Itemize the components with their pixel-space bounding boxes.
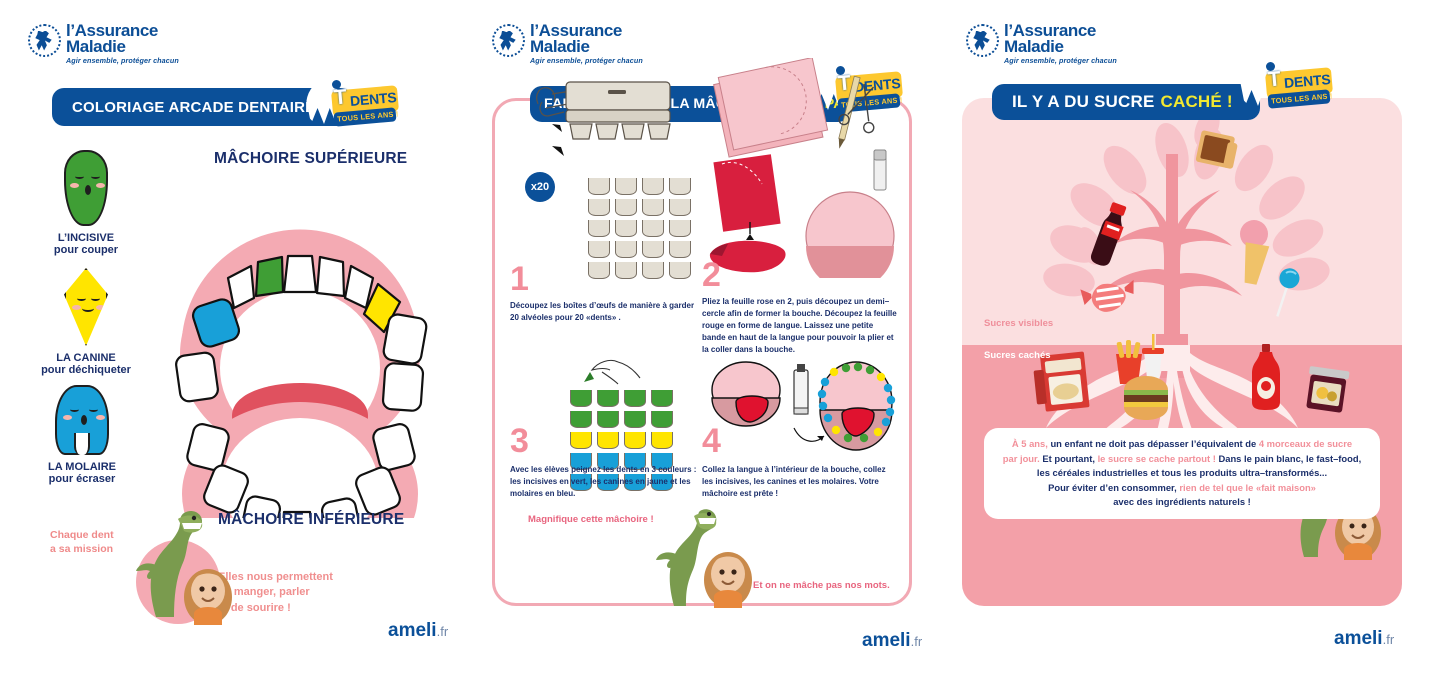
info-s8: les céréales industrielles et tous les p…: [1037, 467, 1327, 478]
step3-paintbrush-illustration: [562, 358, 682, 394]
ice-cream-icon: [1239, 220, 1270, 286]
step1-cups-grid: [588, 178, 691, 279]
note-chaque-dent: Chaque dent a sa mission: [50, 528, 114, 556]
tooth-upper-molar-right-1: [382, 313, 427, 365]
tooth-upper-incisor-1: [284, 256, 316, 292]
step-2-number: 2: [702, 258, 721, 292]
tdents-badge: T DENTS TOUS LES ANS !: [306, 80, 398, 130]
panel-coloriage-arcade-dentaire: l’Assurance Maladie Agir ensemble, proté…: [0, 0, 470, 677]
lollipop-icon: [1268, 266, 1302, 320]
info-s3: 4 morceaux de sucre: [1259, 438, 1352, 449]
info-s1: À 5 ans,: [1012, 438, 1048, 449]
panel-sucre-cache: l’Assurance Maladie Agir ensemble, proté…: [940, 0, 1440, 677]
logo-tagline: Agir ensemble, protéger chacun: [66, 57, 179, 64]
legend-canine: LA CANINE pour déchiqueter: [26, 268, 146, 376]
info-s4: par jour.: [1003, 453, 1040, 464]
tooth-upper-incisor-green: [256, 257, 283, 296]
info-s6: le sucre se cache partout !: [1098, 453, 1216, 464]
assurance-maladie-logo-icon-3: [966, 24, 999, 57]
logo-tagline: Agir ensemble, protéger chacun: [530, 57, 643, 64]
dino-and-girl-characters-2: [642, 508, 782, 608]
tdents-badge-3: T DENTS TOUS LES ANS !: [1240, 62, 1332, 112]
sugar-info-box: À 5 ans, un enfant ne doit pas dépasser …: [984, 428, 1380, 519]
logo-line-2: Maladie: [66, 38, 179, 55]
info-s5: Et pourtant,: [1040, 453, 1098, 464]
incisive-tooth-icon: [64, 150, 108, 226]
logo-line-2: Maladie: [530, 38, 643, 55]
ameli-footer-1[interactable]: ameli.fr: [388, 620, 448, 642]
tooth-upper-molar-right-2: [382, 363, 423, 412]
legend-canine-desc: pour déchiqueter: [26, 364, 146, 376]
message-magnifique: Magnifique cette mâchoire !: [528, 514, 654, 525]
info-s9: Pour éviter d’en consommer,: [1048, 482, 1179, 493]
ketchup-bottle-icon: [1252, 344, 1280, 410]
ameli-footer-2[interactable]: ameli.fr: [862, 630, 922, 652]
dino-and-girl-characters: [112, 505, 242, 625]
assurance-maladie-logo-2: l’Assurance Maladie Agir ensemble, proté…: [492, 22, 643, 64]
legend-molaire: LA MOLAIRE pour écraser: [22, 385, 142, 485]
legend-incisive-desc: pour couper: [26, 244, 146, 256]
panel3-title-accent: CACHÉ !: [1161, 92, 1233, 112]
assurance-maladie-logo-3: l’Assurance Maladie Agir ensemble, proté…: [966, 22, 1117, 64]
canine-tooth-icon: [64, 268, 108, 346]
tooth-upper-incisor-2: [317, 257, 344, 296]
logo-line-2: Maladie: [1004, 38, 1117, 55]
ameli-footer-3[interactable]: ameli.fr: [1334, 628, 1394, 650]
step-2-text: Pliez la feuille rose en 2, puis découpe…: [702, 296, 898, 356]
molaire-tooth-icon: [55, 385, 109, 455]
step-3-number: 3: [510, 424, 529, 458]
assurance-maladie-logo-icon: [28, 24, 61, 57]
panel3-title: IL Y A DU SUCRE: [1012, 92, 1155, 112]
step-3-text: Avec les élèves peignez les dents en 3 c…: [510, 464, 700, 500]
step-1-number: 1: [510, 262, 529, 296]
info-s11: avec des ingrédients naturels !: [1113, 496, 1251, 507]
band-label-sucres-visibles: Sucres visibles: [984, 318, 1053, 329]
upper-jaw-label: MÂCHOIRE SUPÉRIEURE: [214, 150, 407, 168]
panel3-title-banner: IL Y A DU SUCRE CACHÉ !: [992, 84, 1260, 120]
step-4-number: 4: [702, 424, 721, 458]
legend-molaire-title: LA MOLAIRE: [22, 461, 142, 473]
logo-tagline: Agir ensemble, protéger chacun: [1004, 57, 1117, 64]
assurance-maladie-logo: l’Assurance Maladie Agir ensemble, proté…: [28, 22, 179, 64]
badge-letter: T: [333, 85, 348, 110]
step-1-text: Découpez les boîtes d’œufs de manière à …: [510, 300, 695, 324]
info-s7: Dans le pain blanc, le fast–food,: [1216, 453, 1361, 464]
badge-letter: T: [1267, 67, 1282, 92]
x20-badge: x20: [525, 172, 555, 202]
info-s10: rien de tel que le «fait maison»: [1179, 482, 1316, 493]
panel1-title: COLORIAGE ARCADE DENTAIRE: [72, 99, 315, 116]
legend-canine-title: LA CANINE: [26, 352, 146, 364]
poster-sheet: l’Assurance Maladie Agir ensemble, proté…: [0, 0, 1440, 677]
dental-arch-illustration: [170, 168, 430, 518]
step4-finished-jaw-illustration: [698, 358, 898, 458]
tooth-upper-molar-left-2: [175, 352, 219, 403]
lower-jaw-label: MÂCHOIRE INFÉRIEURE: [218, 511, 404, 529]
step-4-text: Collez la langue à l’intérieur de la bou…: [702, 464, 898, 500]
band-label-sucres-caches: Sucres cachés: [984, 350, 1051, 361]
step2-paper-and-tools-illustration: [698, 58, 898, 278]
assurance-maladie-logo-icon-2: [492, 24, 525, 57]
legend-incisive-title: L’INCISIVE: [26, 232, 146, 244]
info-s2: un enfant ne doit pas dépasser l’équival…: [1048, 438, 1259, 449]
legend-molaire-desc: pour écraser: [22, 473, 142, 485]
legend-incisive: L’INCISIVE pour couper: [26, 150, 146, 256]
jam-jar-icon: [1304, 366, 1349, 413]
panel-fabrication-machoire: l’Assurance Maladie Agir ensemble, proté…: [470, 0, 940, 677]
